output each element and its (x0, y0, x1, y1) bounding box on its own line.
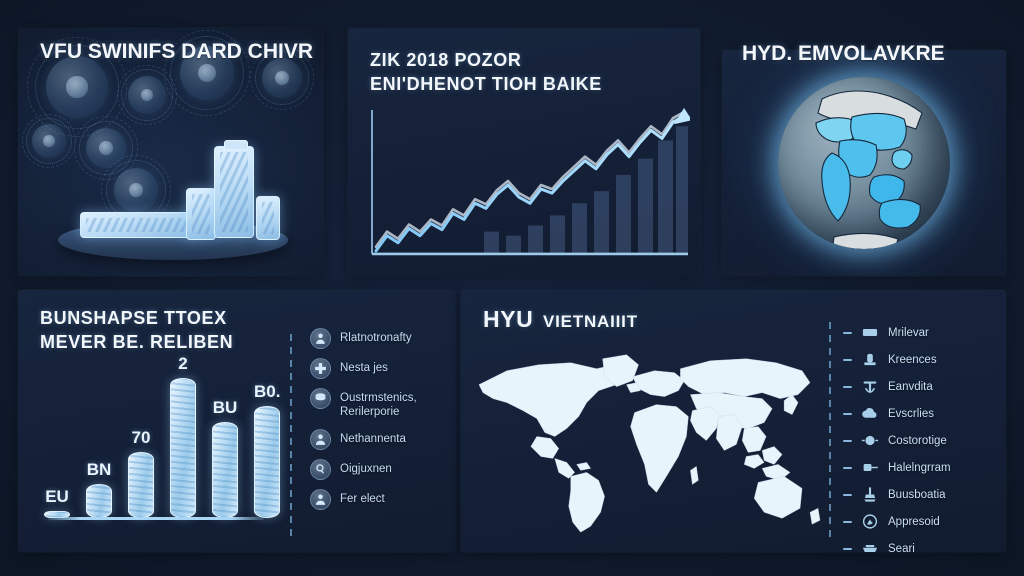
panel-map-title-strong: HYU (483, 306, 533, 332)
legend-people: Rlatnotronafty Nesta jes Oustrmstenics, … (310, 328, 447, 510)
list-item[interactable]: Mrilevar (843, 322, 998, 343)
bar-shape (170, 378, 196, 518)
bar-chart: EU BN 70 2 BU B0. (36, 360, 270, 536)
buoy-icon (859, 351, 881, 369)
legend-label: Seari (888, 543, 915, 553)
legend-label: Oustrmstenics, Rerilerporie (340, 388, 447, 420)
list-item[interactable]: Eanvdita (843, 376, 998, 397)
list-item[interactable]: Rlatnotronafty (310, 328, 447, 349)
virus-particle-icon (114, 168, 158, 212)
legend-label: Halelngrram (888, 462, 951, 474)
legend-label: Oigjuxnen (340, 459, 392, 476)
virus-particle-icon (262, 58, 302, 98)
legend-label: Fer elect (340, 489, 385, 506)
panel-map-title: HYU VIETNAIIIT (483, 306, 638, 332)
bar-item: 2 (170, 354, 196, 518)
vaccine-box-medium (186, 188, 216, 240)
badge-icon (859, 513, 881, 531)
virus-vaccine-illustration (18, 28, 323, 276)
globe-landmasses-svg (778, 77, 950, 249)
world-map (467, 334, 826, 542)
vaccine-box-small (256, 196, 280, 240)
virus-particle-icon (128, 76, 166, 114)
bar-item: BU (212, 398, 238, 518)
bar-shape (254, 406, 280, 518)
globe-sphere (778, 77, 950, 249)
legend-label: Rlatnotronafty (340, 328, 412, 345)
bar-item: EU (44, 487, 70, 518)
bar-value-label: 70 (132, 428, 151, 448)
vaccine-box-tall (214, 146, 254, 238)
panel-bars-title-2: MEVER BE. RELIBEN (40, 332, 233, 353)
panel-bar-chart: BUNSHAPSE TTOEX MEVER BE. RELIBEN EU BN … (18, 290, 455, 552)
container-icon (859, 324, 881, 342)
dash-marker (843, 440, 852, 442)
legend-label: Nethannenta (340, 429, 406, 446)
panel-line-title-2: ENI'DHENOT TIOH BAIKE (370, 74, 602, 95)
legend-label: Costorotige (888, 435, 947, 447)
dash-marker (843, 332, 852, 334)
list-item[interactable]: Costorotige (843, 430, 998, 451)
bar-value-label: BN (87, 460, 112, 480)
list-item[interactable]: Nethannenta (310, 429, 447, 450)
medical-cross-icon (310, 358, 331, 379)
infographic-root: VFU SWINIFS DARD CHIVR ZIK 2018 POZOR EN… (0, 0, 1024, 576)
legend-label: Eanvdita (888, 381, 933, 393)
bar-value-label: 2 (178, 354, 187, 374)
anchor-icon (859, 378, 881, 396)
panel-globe (722, 50, 1006, 276)
legend-label: Kreences (888, 354, 937, 366)
bar-shape (212, 422, 238, 518)
legend-label: Evscrlies (888, 408, 934, 420)
virus-particle-icon (32, 124, 66, 158)
bar-shape (86, 484, 112, 518)
dash-marker (843, 413, 852, 415)
legend-label: Mrilevar (888, 327, 929, 339)
list-item[interactable]: Appresoid (843, 511, 998, 532)
list-item[interactable]: Halelngrram (843, 457, 998, 478)
bar-shape (128, 452, 154, 518)
person-badge-icon (310, 328, 331, 349)
database-stack-icon (310, 388, 331, 409)
cloud-icon (859, 405, 881, 423)
list-item[interactable]: Oustrmstenics, Rerilerporie (310, 388, 447, 420)
bar-value-label: B0. (254, 382, 280, 402)
dash-marker (843, 548, 852, 550)
port-crane-icon (859, 486, 881, 504)
vertical-dashed-divider (290, 334, 292, 536)
vertical-dashed-divider (829, 322, 831, 540)
list-item[interactable]: Evscrlies (843, 403, 998, 424)
growth-line-chart (362, 106, 690, 260)
list-item[interactable]: Buusboatia (843, 484, 998, 505)
dash-marker (843, 386, 852, 388)
panel-virus-title: VFU SWINIFS DARD CHIVR (40, 40, 313, 64)
vaccine-box-flat (80, 212, 196, 238)
world-map-svg (467, 334, 826, 542)
list-item[interactable]: Kreences (843, 349, 998, 370)
legend-label: Buusboatia (888, 489, 946, 501)
dash-marker (843, 494, 852, 496)
bar-value-label: EU (45, 487, 69, 507)
list-item[interactable]: Oigjuxnen (310, 459, 447, 480)
list-item[interactable]: Fer elect (310, 489, 447, 510)
dash-marker (843, 359, 852, 361)
list-item[interactable]: Seari (843, 538, 998, 552)
dash-marker (843, 467, 852, 469)
legend-label: Nesta jes (340, 358, 388, 375)
bar-chart-baseline (48, 517, 264, 520)
panel-map-title-rest: VIETNAIIIT (543, 312, 638, 331)
vessel-icon (859, 540, 881, 553)
bar-item: 70 (128, 428, 154, 518)
panel-line-chart: ZIK 2018 POZOR ENI'DHENOT TIOH BAIKE (348, 28, 700, 276)
globe-illustration (722, 50, 1006, 276)
panel-line-title-1: ZIK 2018 POZOR (370, 50, 521, 71)
bar-value-label: BU (213, 398, 238, 418)
legend-label: Appresoid (888, 516, 940, 528)
panel-globe-title: HYD. EMVOLAVKRE (742, 42, 945, 66)
bar-item: B0. (254, 382, 280, 518)
gauge-icon (859, 432, 881, 450)
person-icon (310, 429, 331, 450)
tag-icon (859, 459, 881, 477)
legend-ships: Mrilevar Kreences Eanvdita (843, 322, 998, 552)
person-search-icon (310, 459, 331, 480)
dash-marker (843, 521, 852, 523)
list-item[interactable]: Nesta jes (310, 358, 447, 379)
bar-item: BN (86, 460, 112, 518)
line-chart-svg (362, 106, 690, 260)
panel-world-map: HYU VIETNAIIIT (461, 290, 1006, 552)
panel-bars-title-1: BUNSHAPSE TTOEX (40, 308, 227, 329)
person-icon (310, 489, 331, 510)
virus-particle-icon (46, 56, 108, 118)
panel-virus-vaccine (18, 28, 323, 276)
